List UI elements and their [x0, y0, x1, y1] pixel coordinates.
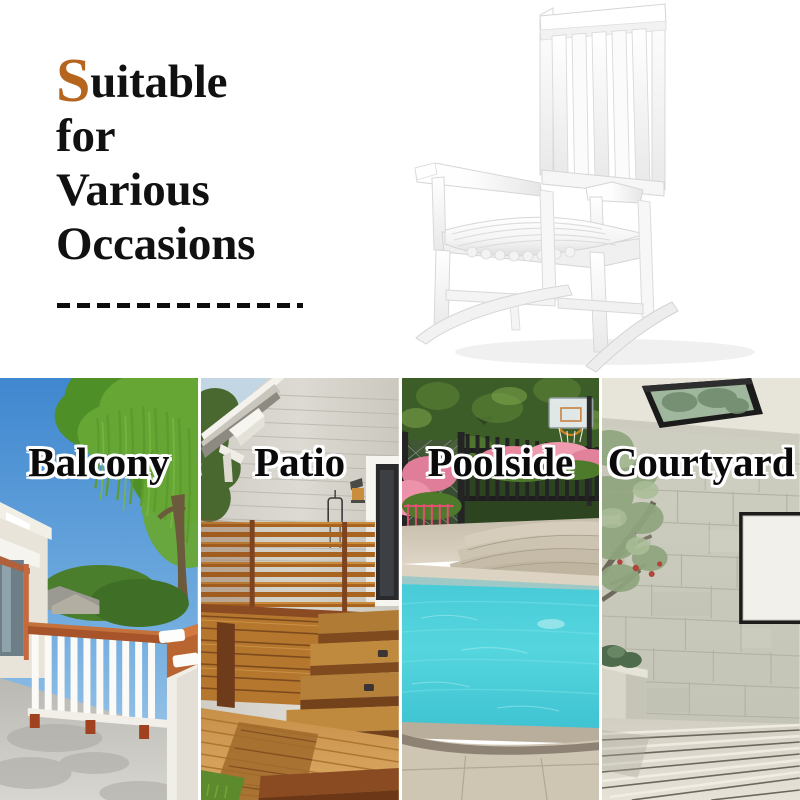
headline-line-1-rest: uitable [90, 56, 227, 108]
panel-patio[interactable]: Patio [201, 378, 399, 800]
promo-poster: Suitable for Various Occasions [0, 0, 800, 800]
panel-label-balcony: Balcony [0, 440, 198, 484]
headline-line-4: Occasions [56, 217, 356, 271]
panel-courtyard[interactable]: Courtyard [602, 378, 800, 800]
headline-line-1: Suitable [56, 54, 356, 109]
headline-line-2: for [56, 109, 356, 163]
panel-label-courtyard: Courtyard [602, 440, 800, 484]
panel-label-patio: Patio [201, 440, 399, 484]
hero-section: Suitable for Various Occasions [0, 0, 800, 378]
headline-line-3: Various [56, 163, 356, 217]
headline: Suitable for Various Occasions [56, 54, 356, 271]
scene-panels: Balcony [0, 378, 800, 800]
panel-label-poolside: Poolside [402, 440, 600, 484]
dashed-divider [57, 303, 303, 308]
product-photo-rocking-chair [390, 0, 800, 378]
panel-balcony[interactable]: Balcony [0, 378, 198, 800]
panel-poolside[interactable]: Poolside [402, 378, 600, 800]
headline-dropcap: S [56, 47, 90, 115]
